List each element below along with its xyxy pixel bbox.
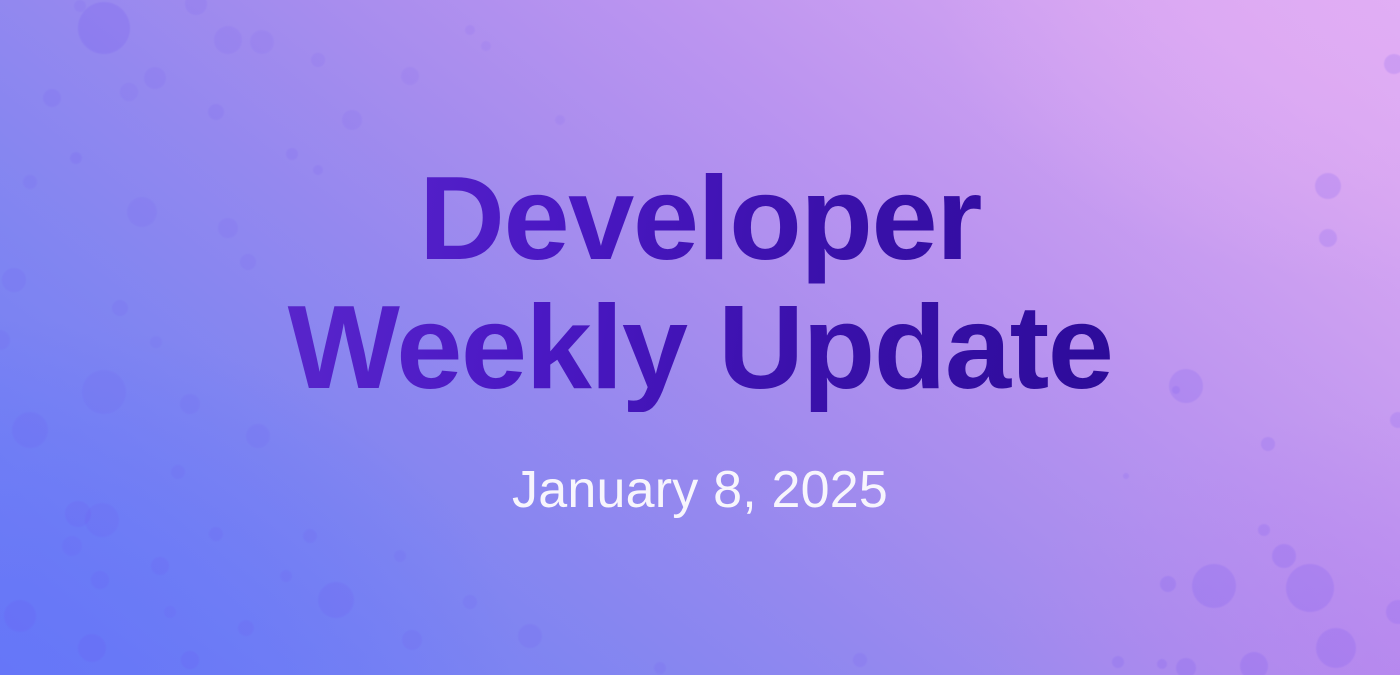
banner-content: Developer Weekly Update January 8, 2025 — [0, 0, 1400, 675]
issue-date: January 8, 2025 — [512, 460, 888, 520]
page-title: Developer Weekly Update — [278, 155, 1123, 412]
newsletter-header-banner: Developer Weekly Update January 8, 2025 — [0, 0, 1400, 675]
